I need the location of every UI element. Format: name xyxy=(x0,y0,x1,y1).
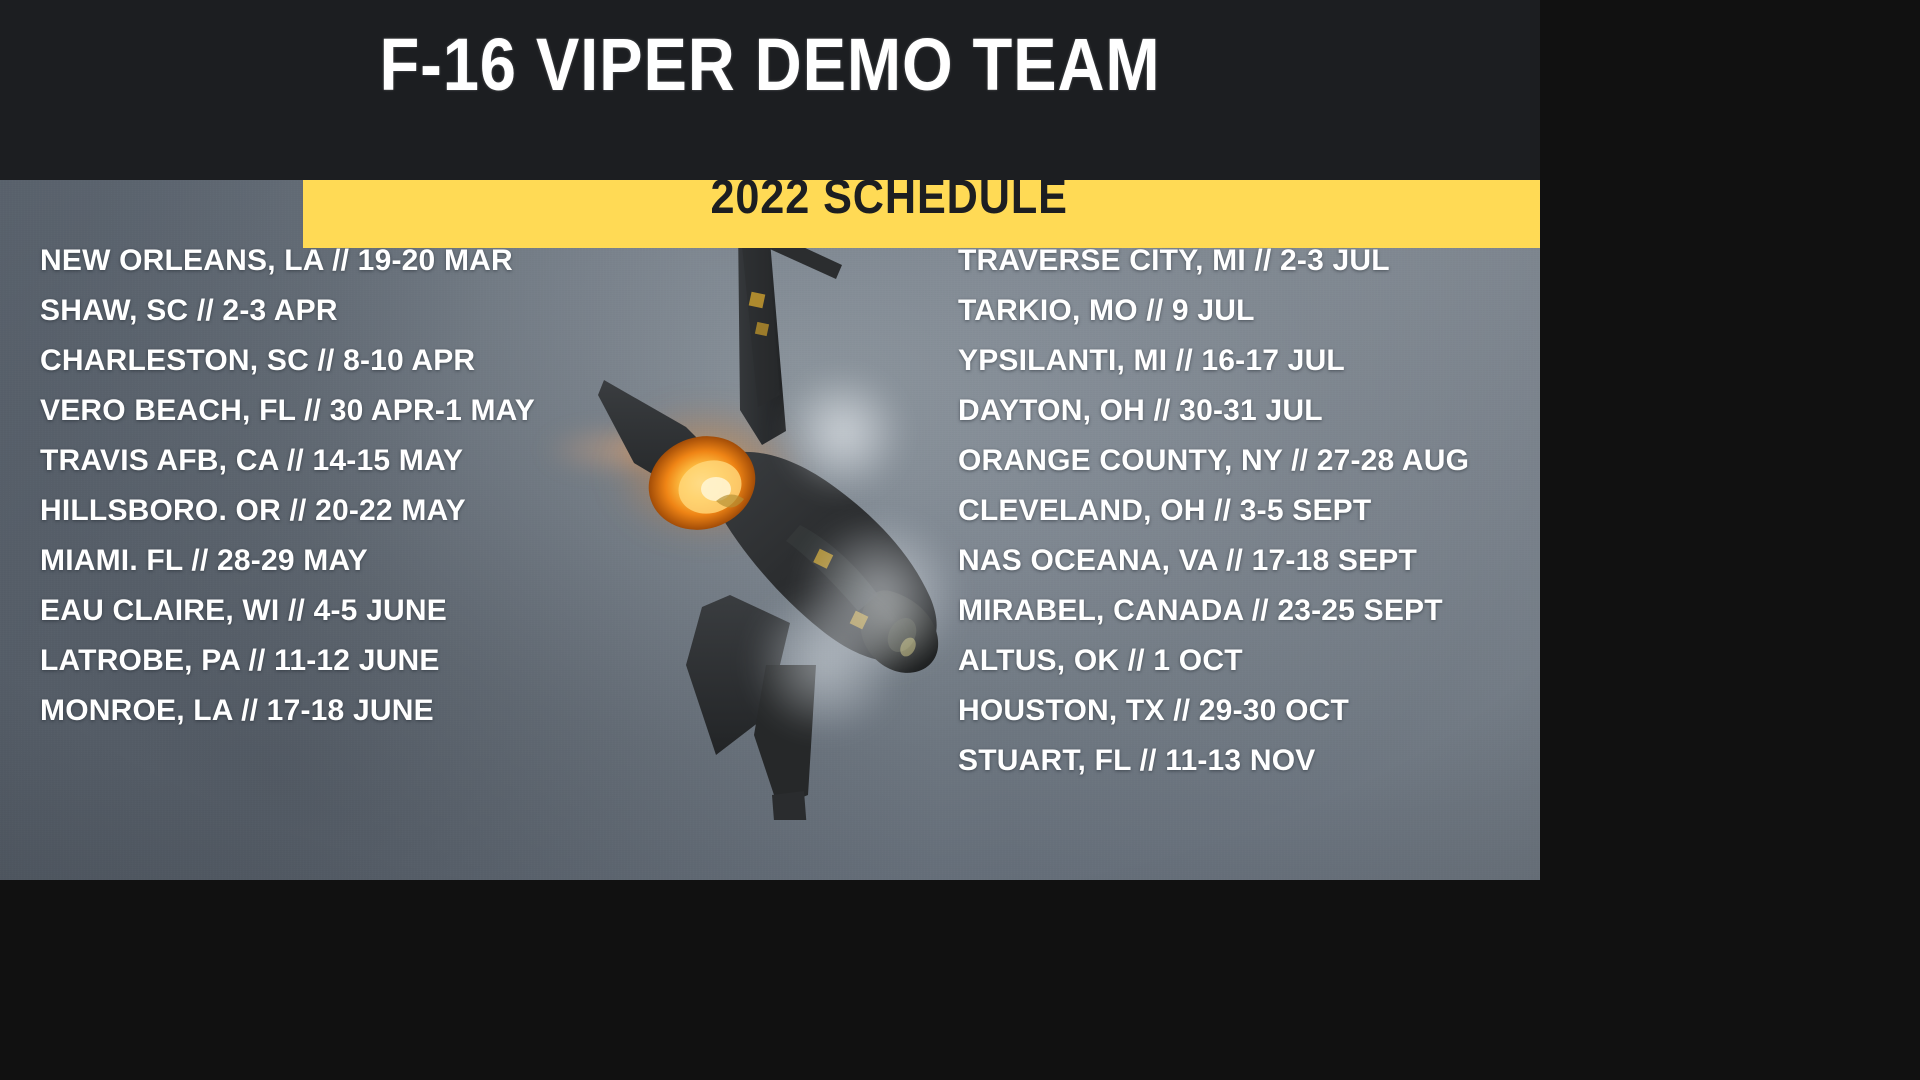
schedule-stop: SHAW, SC // 2-3 APR xyxy=(40,286,660,336)
schedule-stop: VERO BEACH, FL // 30 APR-1 MAY xyxy=(40,386,660,436)
schedule-stop: ORANGE COUNTY, NY // 27-28 AUG xyxy=(958,436,1540,486)
schedule-stop: MIAMI. FL // 28-29 MAY xyxy=(40,536,660,586)
schedule-stop: HOUSTON, TX // 29-30 OCT xyxy=(958,686,1540,736)
page-title: F-16 VIPER DEMO TEAM xyxy=(92,22,1447,107)
schedule-stop: HILLSBORO. OR // 20-22 MAY xyxy=(40,486,660,536)
schedule-stop: MIRABEL, CANADA // 23-25 SEPT xyxy=(958,586,1540,636)
schedule-column-right: TRAVERSE CITY, MI // 2-3 JULTARKIO, MO /… xyxy=(958,236,1540,786)
poster-canvas: F-16 VIPER DEMO TEAM 2022 SCHEDULE NEW O… xyxy=(0,0,1540,880)
schedule-stop: CHARLESTON, SC // 8-10 APR xyxy=(40,336,660,386)
schedule-stop: STUART, FL // 11-13 NOV xyxy=(958,736,1540,786)
schedule-stop: DAYTON, OH // 30-31 JUL xyxy=(958,386,1540,436)
schedule-stop: YPSILANTI, MI // 16-17 JUL xyxy=(958,336,1540,386)
schedule-stop: LATROBE, PA // 11-12 JUNE xyxy=(40,636,660,686)
schedule-stop: NEW ORLEANS, LA // 19-20 MAR xyxy=(40,236,660,286)
schedule-stop: TRAVIS AFB, CA // 14-15 MAY xyxy=(40,436,660,486)
schedule-stop: CLEVELAND, OH // 3-5 SEPT xyxy=(958,486,1540,536)
schedule-stop: TARKIO, MO // 9 JUL xyxy=(958,286,1540,336)
header-bar: F-16 VIPER DEMO TEAM xyxy=(0,0,1540,180)
schedule-stop: MONROE, LA // 17-18 JUNE xyxy=(40,686,660,736)
schedule-stop: ALTUS, OK // 1 OCT xyxy=(958,636,1540,686)
schedule-stop: NAS OCEANA, VA // 17-18 SEPT xyxy=(958,536,1540,586)
schedule-stop: TRAVERSE CITY, MI // 2-3 JUL xyxy=(958,236,1540,286)
schedule-stop: EAU CLAIRE, WI // 4-5 JUNE xyxy=(40,586,660,636)
schedule-column-left: NEW ORLEANS, LA // 19-20 MARSHAW, SC // … xyxy=(40,236,660,736)
